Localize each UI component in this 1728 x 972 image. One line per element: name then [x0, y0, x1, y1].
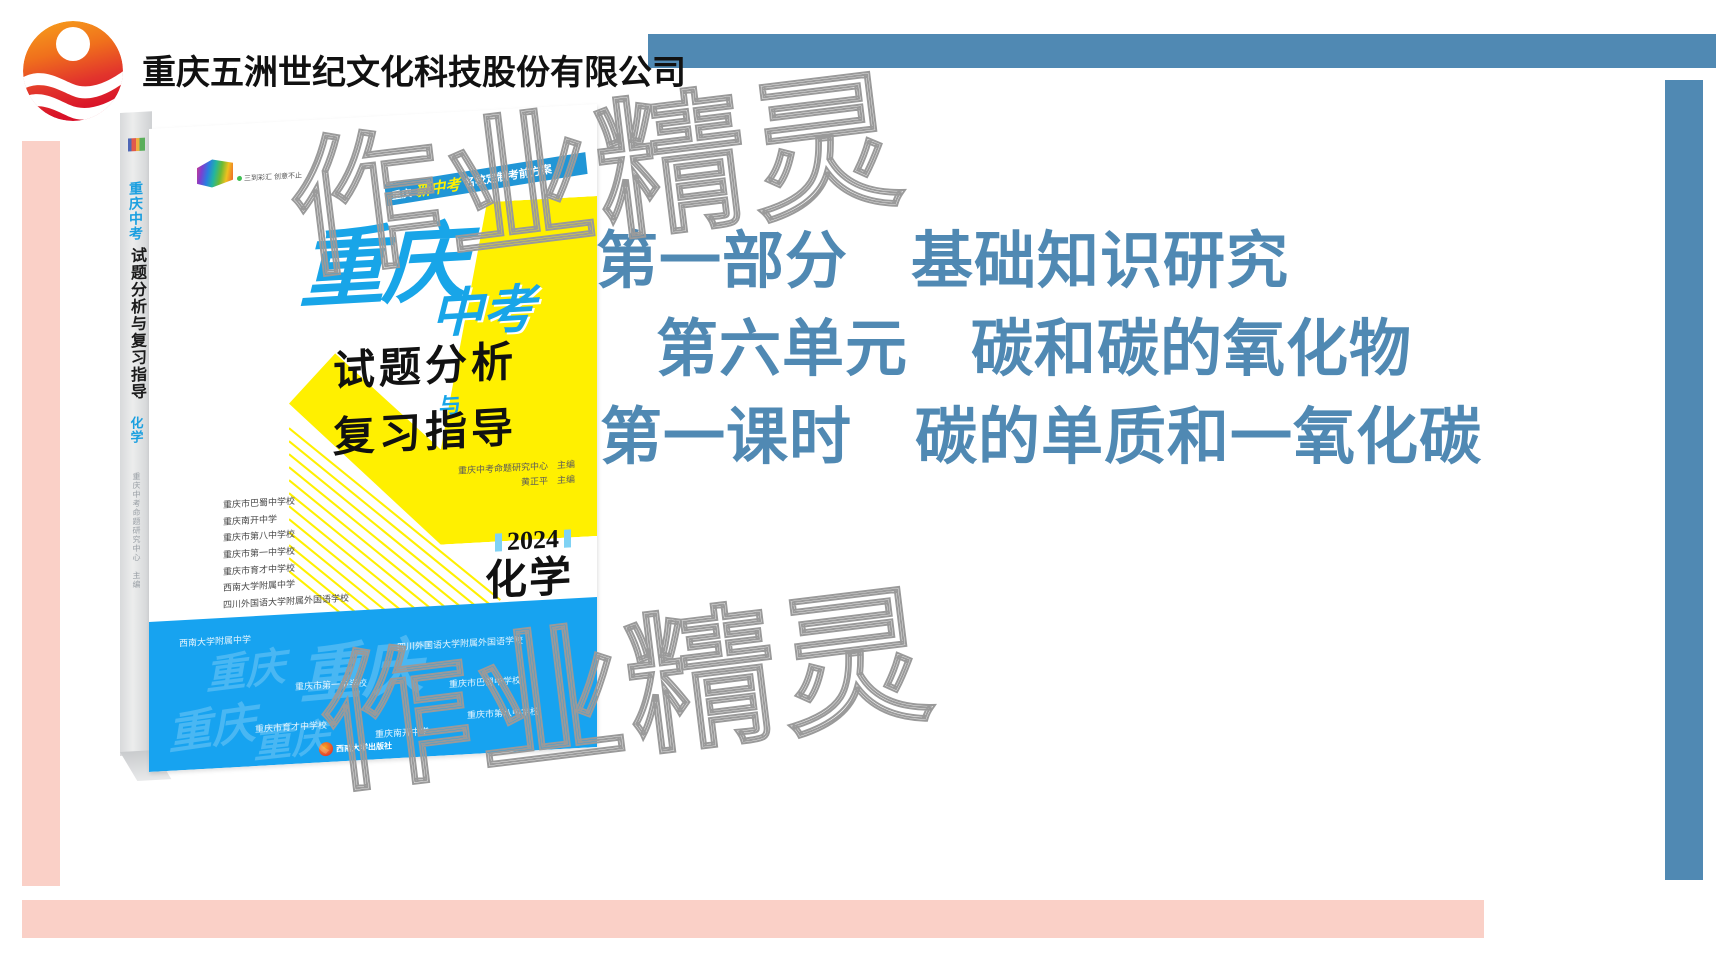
top-blue-bar — [648, 34, 1716, 68]
spine-publisher-icon — [128, 138, 145, 152]
spine-title-label: 试题分析与复习指导 — [128, 247, 144, 401]
sun-wave-circle-logo-icon — [14, 8, 132, 130]
cover-ribbon: 重庆 新中考 名校定制考前方案 — [384, 152, 587, 206]
rainbow-book-icon — [197, 158, 233, 188]
right-blue-bar — [1665, 80, 1703, 880]
band-watermark: 重庆 — [164, 687, 257, 763]
spine-publisher-label: 重庆中考命题研究中心 主编 — [132, 472, 140, 589]
cover-brand-small: 中考 — [431, 283, 535, 341]
left-pink-bar — [22, 141, 60, 886]
year-tick-left-icon — [495, 533, 502, 551]
page-header: 重庆五洲世纪文化科技股份有限公司 — [14, 8, 686, 130]
book-front-cover: 三到彩汇 创意不止 重庆 新中考 名校定制考前方案 重庆 中考 试题分析 与 复… — [149, 104, 597, 772]
cover-editors: 重庆中考命题研究中心 主编 黄正平 主编 — [458, 457, 575, 494]
cover-blue-band: 西南大学出版社 西南大学附属中学四川外国语大学附属外国语学校重庆市第一中学校重庆… — [149, 597, 597, 772]
book-spine: 重庆中考 试题分析与复习指导 化学 重庆中考命题研究中心 主编 — [120, 111, 152, 756]
slide-headline: 第一部分 基础知识研究 第六单元 碳和碳的氧化物 第一课时 碳的单质和一氧化碳 — [596, 218, 1486, 482]
cover-subject: 化学 — [485, 555, 573, 602]
cover-publisher-logo: 三到彩汇 创意不止 — [197, 154, 302, 188]
bottom-pink-bar — [22, 900, 1484, 938]
band-watermark: 重庆 — [297, 615, 424, 716]
headline-line-2: 第六单元 碳和碳的氧化物 — [596, 306, 1486, 394]
company-name: 重庆五洲世纪文化科技股份有限公司 — [142, 45, 686, 94]
band-watermark: 重庆 — [252, 706, 331, 769]
spine-subject-label: 化学 — [130, 416, 143, 445]
band-school-item: 重庆市巴蜀中学校 — [449, 673, 521, 690]
band-school-item: 重庆南开中学 — [375, 724, 429, 740]
ribbon-suffix: 名校定制考前方案 — [463, 161, 552, 191]
headline-line-1: 第一部分 基础知识研究 — [596, 218, 1486, 306]
cover-school-list: 重庆市巴蜀中学校重庆南开中学重庆市第八中学校重庆市第一中学校重庆市育才中学校西南… — [223, 490, 349, 614]
headline-line-3: 第一课时 碳的单质和一氧化碳 — [596, 394, 1486, 482]
ribbon-highlight: 新中考 — [414, 173, 461, 201]
cover-line-analysis: 试题分析 — [333, 340, 517, 392]
cover-line-guide: 复习指导 — [333, 406, 517, 458]
green-dot-icon — [237, 176, 242, 181]
spine-series-label: 重庆中考 — [129, 181, 143, 242]
band-school-item: 重庆市第八中学校 — [467, 704, 539, 721]
cover-year-label: 2024 — [507, 524, 559, 557]
year-tick-right-icon — [564, 529, 571, 547]
book-cover-image: 重庆中考 试题分析与复习指导 化学 重庆中考命题研究中心 主编 三到彩汇 创意不… — [120, 113, 598, 763]
cover-press-name: 西南大学出版社 — [336, 740, 392, 754]
ribbon-prefix: 重庆 — [391, 184, 412, 202]
cover-publisher-slogan: 三到彩汇 创意不止 — [237, 170, 302, 186]
